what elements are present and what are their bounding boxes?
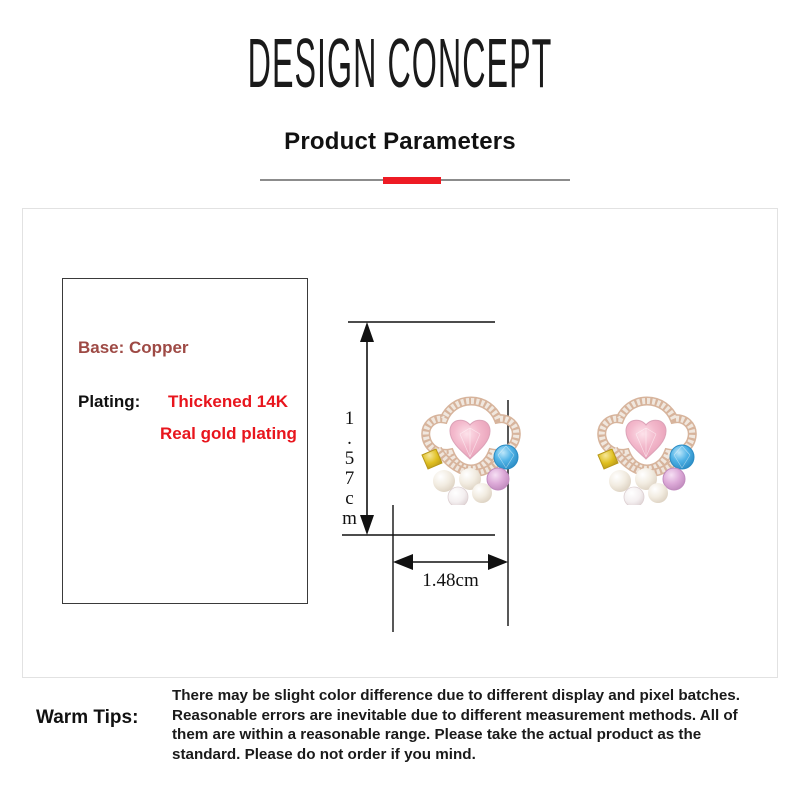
pearl-right <box>648 483 668 503</box>
pearl-left <box>609 470 631 492</box>
warm-tips-text: There may be slight color difference due… <box>172 686 772 764</box>
arrow-down-icon <box>360 515 374 535</box>
page-title: Product Parameters <box>0 128 800 156</box>
clear-stone <box>624 487 644 505</box>
clear-stone <box>448 487 468 505</box>
arrow-left-icon <box>393 554 413 570</box>
plating-value-line2: Real gold plating <box>160 424 297 444</box>
blue-stone <box>670 445 694 469</box>
divider-accent <box>383 177 441 184</box>
warm-tips-label: Warm Tips: <box>36 707 138 729</box>
arrow-up-icon <box>360 322 374 342</box>
plating-value-line1: Thickened 14K <box>168 392 288 412</box>
pearl-right <box>472 483 492 503</box>
design-concept-title: DESIGN CONCEPT <box>192 30 608 99</box>
lavender-stone <box>663 468 685 490</box>
product-image-earring-right <box>588 387 706 505</box>
pearl-left <box>433 470 455 492</box>
base-material-text: Base: Copper <box>78 338 189 358</box>
plating-label: Plating: <box>78 392 140 412</box>
blue-stone <box>494 445 518 469</box>
width-dimension-label: 1.48cm <box>393 570 508 592</box>
title-divider <box>260 178 570 181</box>
product-image-earring-left <box>412 387 530 505</box>
height-dimension-label: 1.57cm <box>338 408 360 528</box>
arrow-right-icon <box>488 554 508 570</box>
product-parameters-page: DESIGN CONCEPT Product Parameters Base: … <box>0 0 800 800</box>
lavender-stone <box>487 468 509 490</box>
